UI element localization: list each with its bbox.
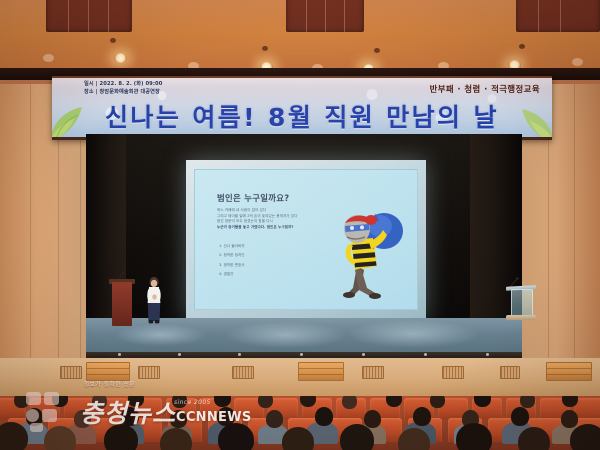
banner-subtitle: 반부패 · 청렴 · 적극행정교육 [430, 83, 540, 95]
burglar-cartoon-icon [327, 204, 405, 300]
audience-head [258, 396, 273, 408]
slide-option: 4. 경찰관 [219, 270, 329, 279]
ceiling-vent [262, 46, 268, 51]
banner-place: 장소 | 창암문화예술회관 대공연장 [84, 89, 162, 97]
ceiling-vent [374, 48, 380, 53]
audience-head [511, 407, 529, 426]
audience-head-foreground [398, 428, 430, 450]
slide-options: 1. 신나 돌아버지 2. 정직한 정치인 3. 정직한 변호사 4. 경찰관 [219, 242, 329, 280]
wall-grille [232, 366, 254, 379]
ceiling-panel [286, 0, 364, 32]
ceiling-downlight [114, 53, 127, 63]
audience-head-foreground [570, 424, 600, 450]
ceiling-vent [519, 44, 525, 49]
audience-head [92, 396, 107, 409]
audience-head-foreground [104, 424, 138, 450]
audience-head [342, 396, 357, 409]
audience-head-foreground [282, 427, 314, 450]
wall-grille [442, 366, 464, 379]
audience-head [266, 410, 283, 428]
audience-head [430, 396, 445, 408]
audience-head-foreground [340, 424, 374, 450]
ceiling [0, 0, 600, 72]
wall-grille [138, 366, 160, 379]
audience-head [121, 407, 139, 426]
ceiling-panel [516, 0, 600, 32]
ceiling-fixture [43, 54, 54, 62]
slide-option: 3. 정직한 변호사 [219, 261, 329, 270]
audience-seating [0, 396, 600, 450]
audience-head-foreground [160, 428, 192, 450]
slide-title: 범인은 누구일까요? [217, 192, 289, 204]
stage-front-panel [0, 358, 600, 400]
audience-head [74, 410, 91, 428]
ceiling-vent [110, 38, 116, 43]
audience-head [561, 410, 578, 428]
audience-head-foreground [518, 427, 550, 450]
audience-head-foreground [44, 426, 76, 450]
audience-head [14, 396, 29, 408]
stage-step [86, 362, 130, 381]
audience-head [26, 408, 43, 426]
stage-step [546, 362, 592, 381]
slide-option: 2. 정직한 정치인 [219, 251, 329, 260]
stage-step [298, 362, 344, 381]
presentation-slide: 범인은 누구일까요? 하느 카페에 내 사람이 앉아 있다 그리고 테이블 밑에… [194, 169, 418, 310]
audience-head [315, 407, 333, 426]
audience-head [520, 396, 535, 408]
audience-head-foreground [218, 423, 254, 450]
ceiling-panel [46, 0, 132, 32]
wall-grille [60, 366, 82, 379]
wall-grille [362, 366, 384, 379]
banner-title: 신나는 여름! 8월 직원 만남의 날 [52, 98, 552, 134]
slide-option: 1. 신나 돌아버지 [219, 242, 329, 251]
audience-head [170, 410, 187, 428]
wall-grille [500, 366, 520, 379]
audience-head-foreground [456, 423, 492, 450]
audience-head [413, 407, 431, 426]
projection-screen: 범인은 누구일까요? 하느 카페에 내 사람이 앉아 있다 그리고 테이블 밑에… [186, 160, 426, 320]
wooden-podium [112, 282, 132, 326]
audience-head [172, 396, 187, 408]
presenter [143, 276, 165, 326]
banner-details: 일시 | 2022. 8. 2. (화) 09:00 장소 | 창암문화예술회관… [84, 81, 162, 96]
auditorium-photo: 일시 | 2022. 8. 2. (화) 09:00 장소 | 창암문화예술회관… [0, 0, 600, 450]
audience-head [364, 410, 381, 428]
lectern-base [506, 315, 536, 320]
banner-date: 일시 | 2022. 8. 2. (화) 09:00 [84, 81, 162, 89]
ceiling-fixture [572, 58, 583, 66]
event-banner: 일시 | 2022. 8. 2. (화) 09:00 장소 | 창암문화예술회관… [52, 76, 552, 140]
